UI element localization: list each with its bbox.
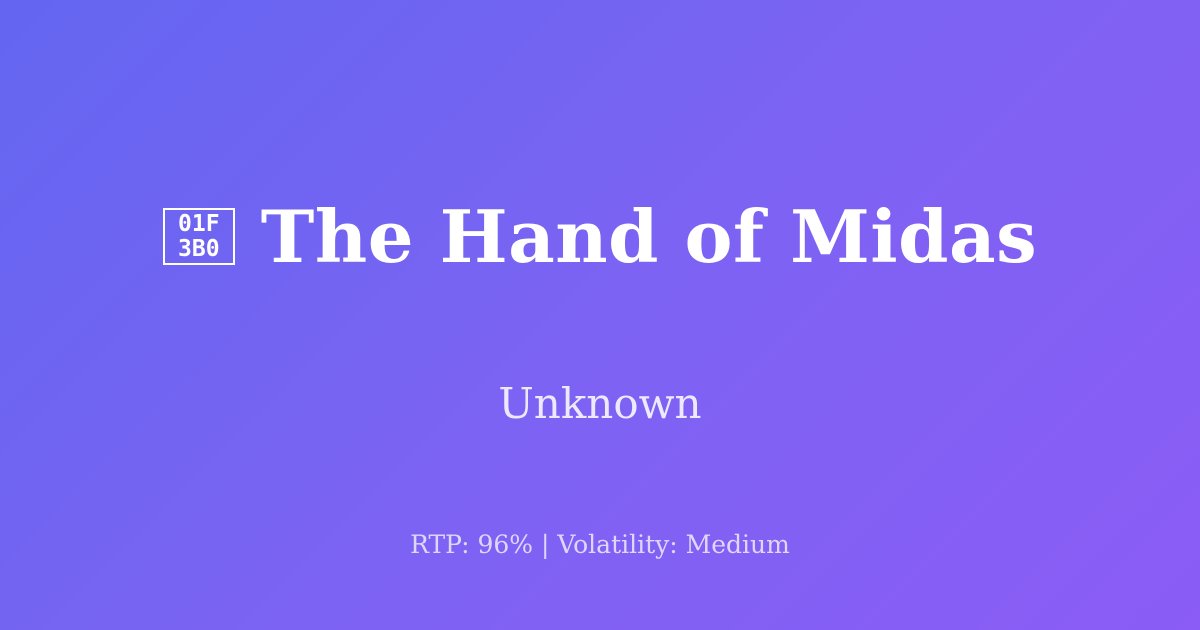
- og-card: 01F 3B0 The Hand of Midas Unknown RTP: 9…: [0, 0, 1200, 630]
- game-stats-footer: RTP: 96% | Volatility: Medium: [0, 530, 1200, 560]
- rtp-stat: RTP: 96% | Volatility: Medium: [410, 530, 790, 559]
- provider-subtitle: Unknown: [498, 381, 701, 427]
- emoji-codepoint-row-1: 01F: [178, 212, 220, 237]
- slot-machine-emoji-icon: 01F 3B0: [163, 208, 235, 265]
- emoji-codepoint-row-2: 3B0: [178, 237, 220, 262]
- title-row: 01F 3B0 The Hand of Midas: [163, 151, 1037, 323]
- page-title: The Hand of Midas: [261, 199, 1037, 275]
